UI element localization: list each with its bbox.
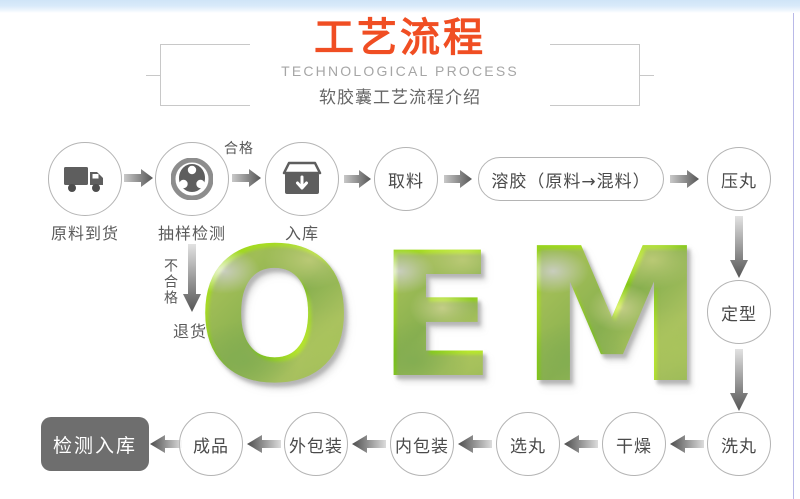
inbox-icon <box>282 160 322 198</box>
caption-warehouse-in: 入库 <box>268 220 336 244</box>
caption-raw-arrival: 原料到货 <box>35 220 135 244</box>
arrow-selecting-to-inner-packaging <box>458 434 492 454</box>
caption-sampling-inspection: 抽样检测 <box>142 220 242 244</box>
node-pressing[interactable]: 压丸 <box>707 147 771 211</box>
label-unqualified: 不合格 <box>160 258 180 306</box>
node-raw-arrival[interactable] <box>48 142 122 216</box>
oem-letter-e: E <box>378 236 496 396</box>
top-gradient-band <box>0 0 800 13</box>
arrow-outer-packaging-to-finished <box>247 434 281 454</box>
oem-watermark: O E M <box>196 236 704 396</box>
arrow-washing-to-drying <box>670 434 704 454</box>
arrow-drying-to-selecting <box>564 434 598 454</box>
node-sampling-inspection[interactable] <box>155 142 229 216</box>
arrow-warehouse-to-pick <box>344 169 371 189</box>
node-sol-gel[interactable]: 溶胶（原料→混料） <box>478 157 664 201</box>
page-subtitle: 软胶囊工艺流程介绍 <box>248 86 552 110</box>
header-bracket-right <box>550 44 640 106</box>
page-title: 工艺流程 <box>248 16 552 60</box>
node-warehouse-in[interactable] <box>265 142 339 216</box>
node-material-pick[interactable]: 取料 <box>374 147 438 211</box>
arrow-solgel-to-pressing <box>670 169 700 189</box>
arrow-sampling-to-warehouse <box>232 168 262 188</box>
arrow-shaping-to-washing <box>729 349 749 411</box>
inspection-icon <box>171 158 213 200</box>
arrow-finished-to-final-inspection <box>150 434 182 454</box>
page-header: 工艺流程 TECHNOLOGICAL PROCESS 软胶囊工艺流程介绍 <box>0 14 800 118</box>
node-finished-product[interactable]: 成品 <box>179 412 243 476</box>
header-bracket-left <box>160 44 250 106</box>
oem-letter-m: M <box>520 236 704 396</box>
node-shaping[interactable]: 定型 <box>707 280 771 344</box>
oem-letter-o: O <box>196 236 353 396</box>
flowchart-page: 工艺流程 TECHNOLOGICAL PROCESS 软胶囊工艺流程介绍 O E… <box>0 0 800 499</box>
node-selecting[interactable]: 选丸 <box>496 412 560 476</box>
label-qualified: 合格 <box>224 138 254 158</box>
node-final-inspection-storage[interactable]: 检测入库 <box>41 417 149 471</box>
page-title-english: TECHNOLOGICAL PROCESS <box>248 62 552 80</box>
arrow-pick-to-solgel <box>444 169 472 189</box>
caption-return-goods: 退货 <box>162 318 218 342</box>
truck-icon <box>63 164 107 194</box>
arrow-raw-to-sampling <box>124 168 154 188</box>
arrow-pressing-to-shaping <box>729 216 749 278</box>
node-outer-packaging[interactable]: 外包装 <box>284 412 348 476</box>
node-inner-packaging[interactable]: 内包装 <box>390 412 454 476</box>
node-washing[interactable]: 洗丸 <box>707 412 771 476</box>
node-drying[interactable]: 干燥 <box>602 412 666 476</box>
arrow-inner-to-outer-packaging <box>352 434 386 454</box>
arrow-sampling-to-return <box>182 244 202 312</box>
